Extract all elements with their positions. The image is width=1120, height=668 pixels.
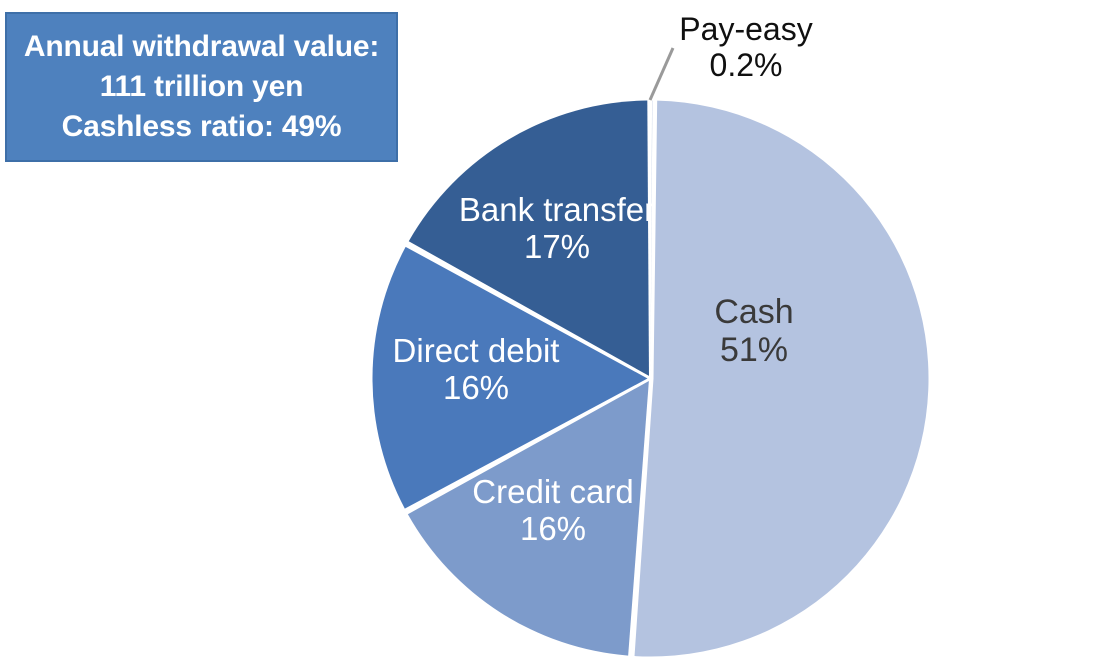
pay-easy-leader-line	[650, 48, 673, 100]
pie-slice-cash[interactable]	[635, 101, 929, 657]
callout-line-1: Annual withdrawal value:	[24, 27, 379, 67]
chart-canvas: Annual withdrawal value: 111 trillion ye…	[0, 0, 1120, 668]
pie-slice-pay-easy[interactable]	[651, 101, 653, 376]
callout-line-2: 111 trillion yen	[100, 67, 304, 107]
callout-line-3: Cashless ratio: 49%	[62, 107, 342, 147]
annual-withdrawal-callout-box: Annual withdrawal value: 111 trillion ye…	[5, 12, 398, 162]
